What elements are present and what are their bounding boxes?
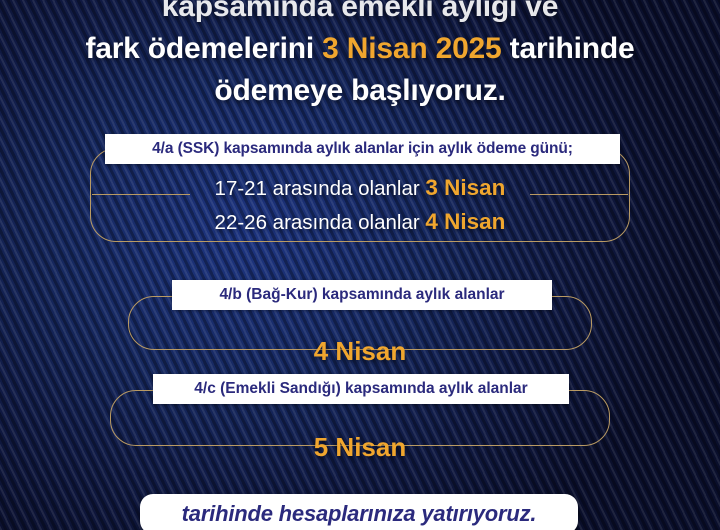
headline-line-2: ödemeye başlıyoruz. (0, 70, 720, 112)
footer-pill: tarihinde hesaplarınıza yatırıyoruz. (140, 494, 578, 530)
card-4c-label-plate: 4/c (Emekli Sandığı) kapsamında aylık al… (153, 374, 569, 404)
card-4c-emekli-sandigi: 4/c (Emekli Sandığı) kapsamında aylık al… (110, 390, 610, 446)
headline-line-1-post: tarihinde (502, 32, 635, 65)
card-4a-row-1-text: 17-21 arasında olanlar (215, 177, 426, 200)
card-4a-row-2: 22-26 arasında olanlar 4 Nisan (90, 209, 630, 235)
card-4a-row-2-text: 22-26 arasında olanlar (215, 211, 426, 234)
headline: kapsamında emekli aylığı ve fark ödemele… (0, 0, 720, 112)
card-4a-ssk: 4/a (SSK) kapsamında aylık alanlar için … (90, 148, 630, 242)
card-4a-row-1: 17-21 arasında olanlar 3 Nisan (90, 175, 630, 201)
card-4a-label-plate: 4/a (SSK) kapsamında aylık alanlar için … (105, 134, 620, 164)
headline-line-1: fark ödemelerini 3 Nisan 2025 tarihinde (0, 28, 720, 70)
headline-date-accent: 3 Nisan 2025 (322, 32, 501, 65)
card-4b-label-plate: 4/b (Bağ-Kur) kapsamında aylık alanlar (172, 280, 552, 310)
card-4a-row-1-date: 3 Nisan (425, 175, 505, 200)
card-4b-bagkur: 4/b (Bağ-Kur) kapsamında aylık alanlar 4… (128, 296, 592, 350)
headline-line-1-pre: fark ödemelerini (85, 32, 322, 65)
card-4a-row-2-date: 4 Nisan (425, 209, 505, 234)
headline-clipped-line: kapsamında emekli aylığı ve (0, 0, 720, 28)
footer-pill-text: tarihinde hesaplarınıza yatırıyoruz. (182, 501, 537, 527)
card-4c-date: 5 Nisan (110, 432, 610, 463)
card-4b-date: 4 Nisan (128, 336, 592, 367)
poster-canvas: kapsamında emekli aylığı ve fark ödemele… (0, 0, 720, 530)
